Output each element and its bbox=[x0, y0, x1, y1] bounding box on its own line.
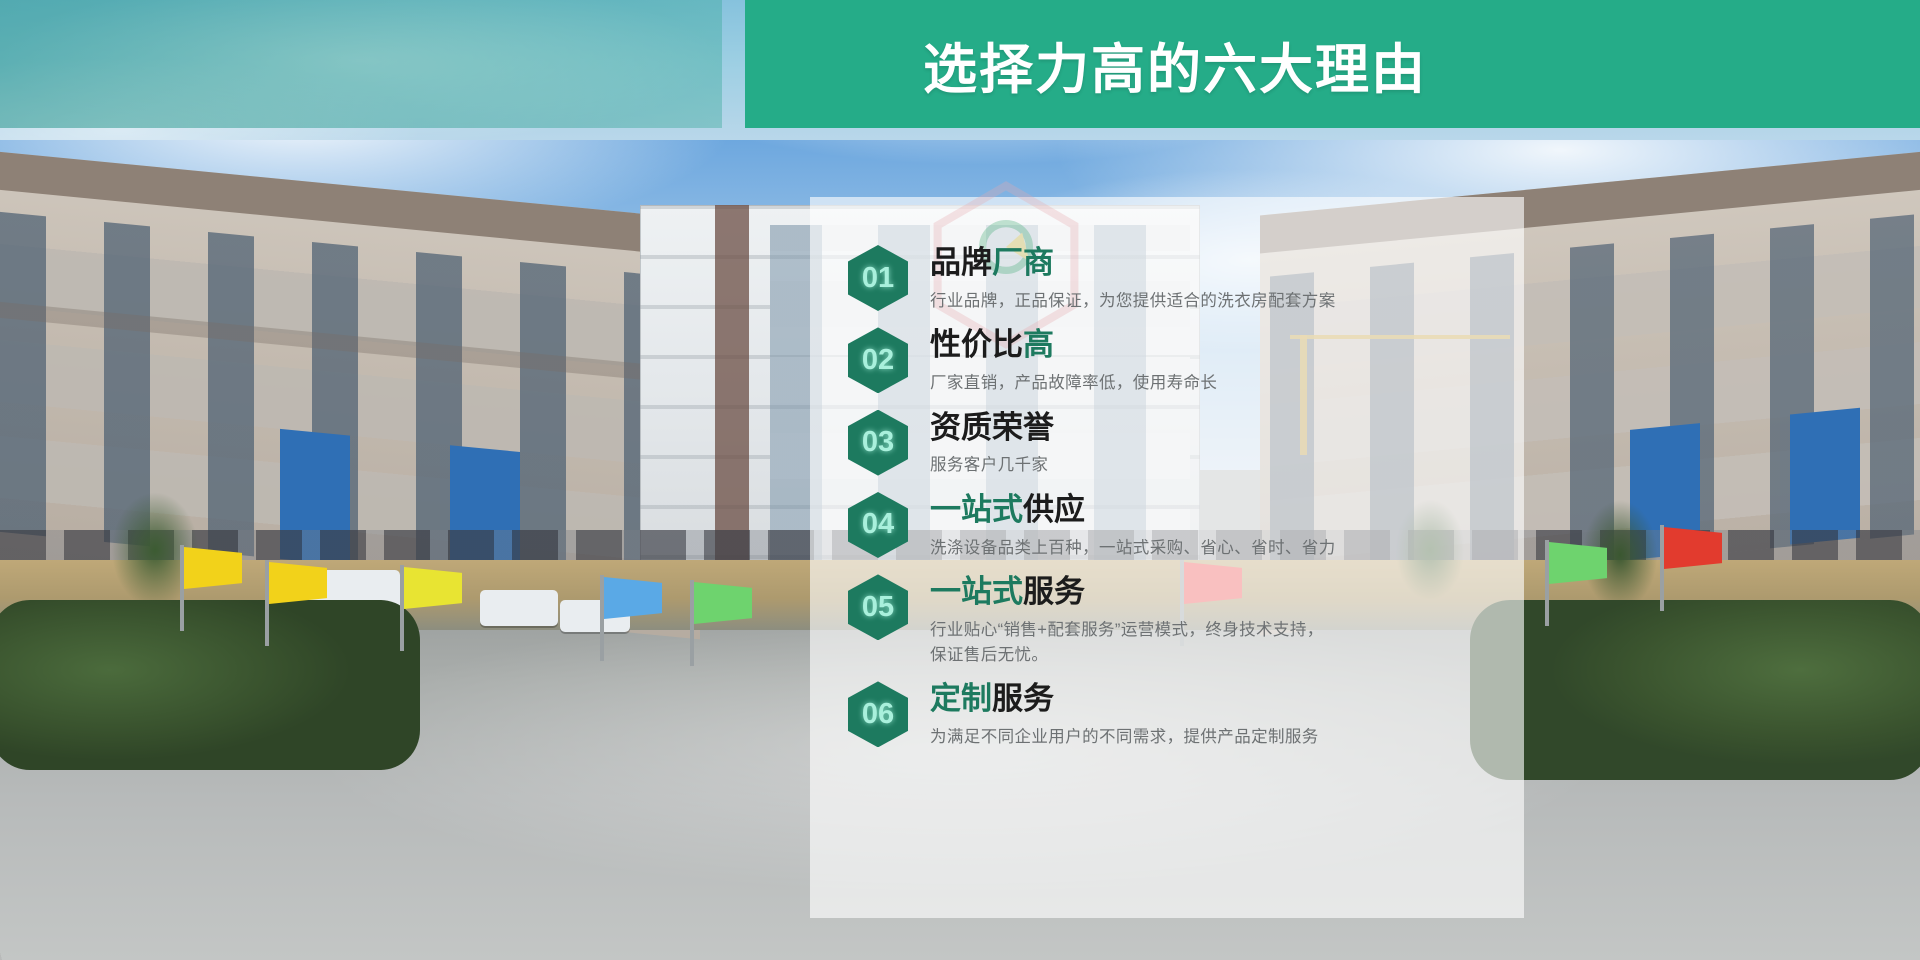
reason-description: 行业品牌，正品保证，为您提供适合的洗衣房配套方案 bbox=[930, 289, 1488, 314]
reason-title-dark: 品牌 bbox=[930, 245, 992, 280]
reasons-panel: 01 品牌厂商 行业品牌，正品保证，为您提供适合的洗衣房配套方案 02 性价比高… bbox=[810, 197, 1524, 918]
reason-number: 01 bbox=[848, 245, 908, 311]
reason-title: 性价比高 bbox=[930, 327, 1488, 364]
page-title: 选择力高的六大理由 bbox=[745, 0, 1605, 128]
reasons-list: 01 品牌厂商 行业品牌，正品保证，为您提供适合的洗衣房配套方案 02 性价比高… bbox=[848, 245, 1488, 764]
reason-title: 定制服务 bbox=[930, 681, 1488, 718]
reason-number: 06 bbox=[848, 681, 908, 747]
reason-title-accent: 一站式 bbox=[930, 492, 1023, 527]
reason-title-accent: 一站式 bbox=[930, 574, 1023, 609]
reason-title-dark: 资质荣誉 bbox=[930, 410, 1054, 445]
reason-badge: 06 bbox=[848, 681, 908, 747]
reason-title-accent: 厂商 bbox=[992, 245, 1054, 280]
reason-badge: 01 bbox=[848, 245, 908, 311]
left-shrubs bbox=[0, 600, 420, 770]
reason-number: 02 bbox=[848, 327, 908, 393]
reason-text: 品牌厂商 行业品牌，正品保证，为您提供适合的洗衣房配套方案 bbox=[930, 245, 1488, 313]
reason-text: 一站式服务 行业贴心“销售+配套服务”运营模式，终身技术支持， 保证售后无忧。 bbox=[930, 574, 1488, 667]
reason-badge: 05 bbox=[848, 574, 908, 640]
right-shrubs bbox=[1470, 600, 1920, 780]
reason-description: 厂家直销，产品故障率低，使用寿命长 bbox=[930, 371, 1488, 396]
banner-stage: 选择力高的六大理由 01 品牌厂商 行业品牌，正品保证，为您提供适合的洗衣房配套… bbox=[0, 0, 1920, 960]
reason-number: 05 bbox=[848, 574, 908, 640]
list-item[interactable]: 03 资质荣誉 服务客户几千家 bbox=[848, 410, 1488, 478]
reason-title-dark: 性价比 bbox=[930, 327, 1023, 362]
reason-number: 04 bbox=[848, 492, 908, 558]
reason-title-accent: 定制 bbox=[930, 681, 992, 716]
page-header: 选择力高的六大理由 bbox=[0, 0, 1920, 140]
reason-badge: 02 bbox=[848, 327, 908, 393]
list-item[interactable]: 01 品牌厂商 行业品牌，正品保证，为您提供适合的洗衣房配套方案 bbox=[848, 245, 1488, 313]
reason-text: 定制服务 为满足不同企业用户的不同需求，提供产品定制服务 bbox=[930, 681, 1488, 749]
reason-title-dark: 服务 bbox=[992, 681, 1054, 716]
reason-title: 一站式服务 bbox=[930, 574, 1488, 611]
header-teal-overlay bbox=[0, 0, 722, 128]
list-item[interactable]: 05 一站式服务 行业贴心“销售+配套服务”运营模式，终身技术支持， 保证售后无… bbox=[848, 574, 1488, 667]
reason-title: 资质荣誉 bbox=[930, 410, 1488, 447]
reason-title-accent: 高 bbox=[1023, 327, 1054, 362]
reason-title: 一站式供应 bbox=[930, 492, 1488, 529]
reason-text: 一站式供应 洗涤设备品类上百种，一站式采购、省心、省时、省力 bbox=[930, 492, 1488, 560]
reason-text: 资质荣誉 服务客户几千家 bbox=[930, 410, 1488, 478]
reason-description: 洗涤设备品类上百种，一站式采购、省心、省时、省力 bbox=[930, 536, 1488, 561]
list-item[interactable]: 02 性价比高 厂家直销，产品故障率低，使用寿命长 bbox=[848, 327, 1488, 395]
list-item[interactable]: 04 一站式供应 洗涤设备品类上百种，一站式采购、省心、省时、省力 bbox=[848, 492, 1488, 560]
reason-title-dark: 服务 bbox=[1023, 574, 1085, 609]
reason-description: 为满足不同企业用户的不同需求，提供产品定制服务 bbox=[930, 725, 1488, 750]
reason-title-dark: 供应 bbox=[1023, 492, 1085, 527]
list-item[interactable]: 06 定制服务 为满足不同企业用户的不同需求，提供产品定制服务 bbox=[848, 681, 1488, 749]
reason-description: 服务客户几千家 bbox=[930, 453, 1488, 478]
reason-number: 03 bbox=[848, 410, 908, 476]
reason-badge: 03 bbox=[848, 410, 908, 476]
reason-badge: 04 bbox=[848, 492, 908, 558]
reason-title: 品牌厂商 bbox=[930, 245, 1488, 282]
reason-description: 行业贴心“销售+配套服务”运营模式，终身技术支持， 保证售后无忧。 bbox=[930, 618, 1488, 668]
reason-text: 性价比高 厂家直销，产品故障率低，使用寿命长 bbox=[930, 327, 1488, 395]
